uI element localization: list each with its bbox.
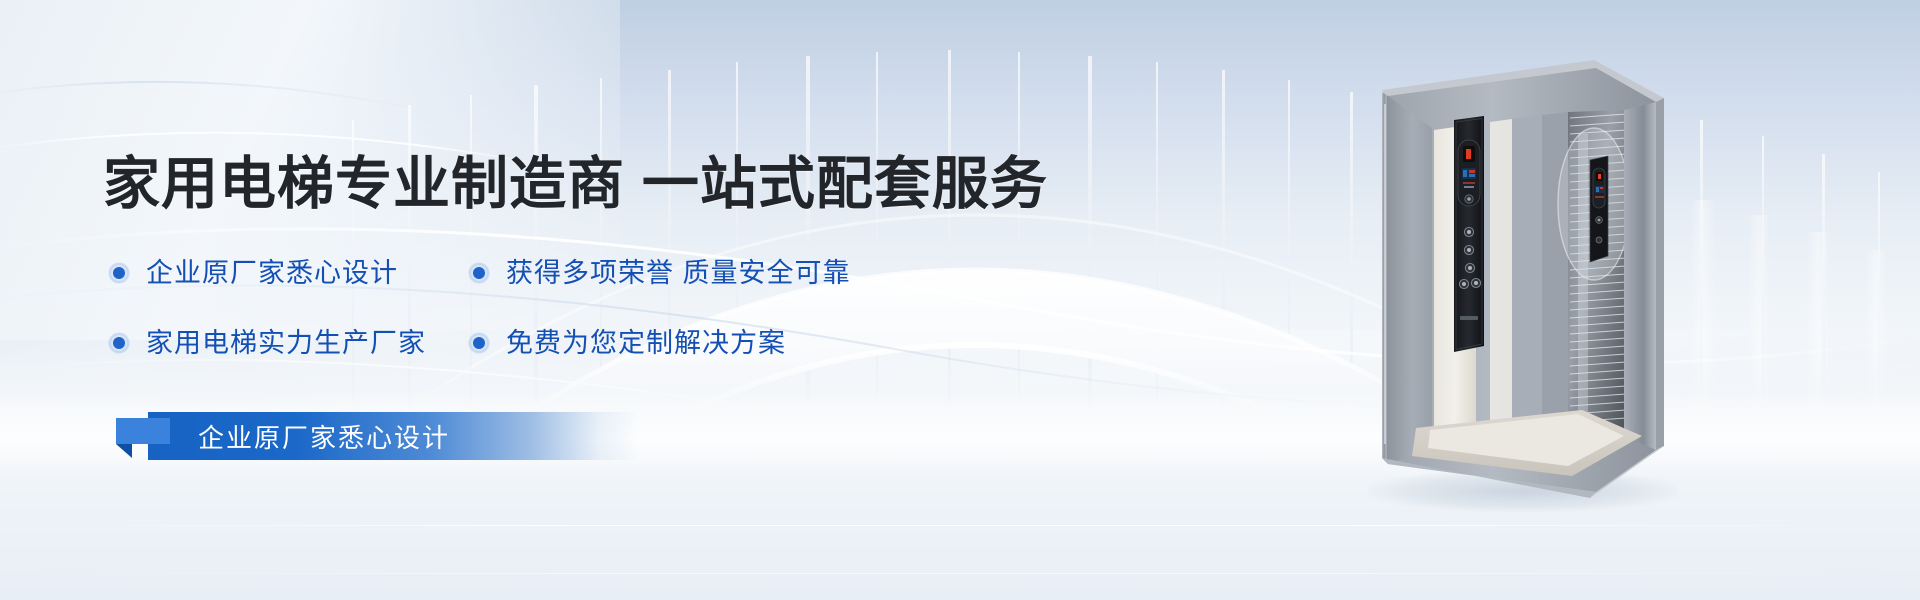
list-item: 免费为您定制解决方案 bbox=[468, 328, 938, 358]
hero-banner: 家用电梯专业制造商 一站式配套服务 企业原厂家悉心设计 获得多项荣誉 质量安全可… bbox=[0, 0, 1920, 600]
page-title: 家用电梯专业制造商 一站式配套服务 bbox=[103, 152, 1048, 216]
blue-dot-icon bbox=[108, 332, 130, 354]
cop-brand-plate bbox=[1460, 316, 1478, 320]
feature-label: 免费为您定制解决方案 bbox=[506, 328, 786, 358]
floor-line-1 bbox=[0, 525, 1920, 526]
blue-dot-icon bbox=[108, 262, 130, 284]
ribbon-tab-icon bbox=[116, 418, 170, 444]
list-item: 企业原厂家悉心设计 bbox=[108, 258, 468, 288]
floor-line-2 bbox=[0, 573, 1920, 574]
elevator-cabin-svg bbox=[1372, 44, 1672, 504]
feature-list: 企业原厂家悉心设计 获得多项荣誉 质量安全可靠 家用电梯实力生产厂家 免费为您定… bbox=[108, 258, 968, 398]
cabin-body bbox=[1372, 44, 1672, 504]
list-item: 获得多项荣誉 质量安全可靠 bbox=[468, 258, 938, 288]
secondary-control-panel bbox=[1590, 156, 1608, 262]
ribbon-notch-icon bbox=[116, 444, 132, 458]
home-elevator-cabin-photo bbox=[1372, 44, 1672, 504]
feature-label: 获得多项荣誉 质量安全可靠 bbox=[506, 258, 851, 288]
cabin-right-frame bbox=[1656, 98, 1664, 450]
feature-row: 家用电梯实力生产厂家 免费为您定制解决方案 bbox=[108, 328, 968, 398]
highlight-ribbon: 企业原厂家悉心设计 bbox=[148, 412, 638, 460]
feature-label: 家用电梯实力生产厂家 bbox=[146, 328, 426, 358]
control-panel bbox=[1454, 116, 1484, 352]
blue-dot-icon bbox=[468, 262, 490, 284]
feature-row: 企业原厂家悉心设计 获得多项荣誉 质量安全可靠 bbox=[108, 258, 968, 328]
list-item: 家用电梯实力生产厂家 bbox=[108, 328, 468, 358]
blue-dot-icon bbox=[468, 332, 490, 354]
feature-label: 企业原厂家悉心设计 bbox=[146, 258, 398, 288]
ribbon-label: 企业原厂家悉心设计 bbox=[198, 418, 450, 455]
